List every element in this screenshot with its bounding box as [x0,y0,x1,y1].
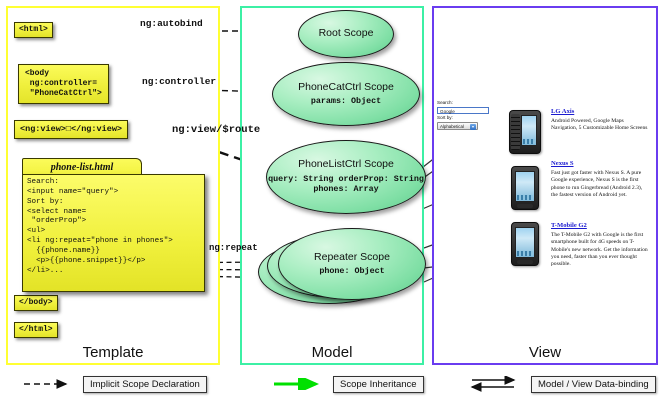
code-tag-body-close: </body> [14,295,58,311]
legend-label-databinding: Model / View Data-binding [531,376,656,393]
scope-repeater: Repeater Scope phone: Object [278,228,426,300]
sort-select[interactable]: Alphabetical ▾ [437,122,478,130]
home-button-graphic [517,204,533,208]
code-tag-ngview: <ng:view>□</ng:view> [14,120,128,139]
chevron-down-icon: ▾ [470,124,476,130]
note-code: Search: <input name="query"> Sort by: <s… [22,174,205,292]
label-ng-view-route: ng:view/$route [172,124,260,136]
home-button-graphic [517,260,533,264]
sort-label: Sort by: [437,115,497,121]
scope-phonecatctrl-props: params: Object [311,96,381,106]
column-label-model: Model [242,344,422,361]
phone-thumbnail-lg-axis [509,110,541,154]
code-tag-body: <body ng:controller= "PhoneCatCtrl"> [18,64,109,104]
diagram-canvas: Template Model View <html> <body ng:cont… [0,0,660,405]
code-tag-html-close: </html> [14,322,58,338]
browser-mock: Search: Google Sort by: Alphabetical ▾ [437,100,497,142]
search-label: Search: [437,100,497,106]
phone-name-link[interactable]: T-Mobile G2 [551,222,649,230]
sort-select-value: Alphabetical [440,124,464,129]
scope-phonelistctrl-title: PhoneListCtrl Scope [298,159,394,171]
legend-item-implicit: Implicit Scope Declaration [22,374,207,394]
scope-root: Root Scope [298,10,394,58]
code-tag-html: <html> [14,22,53,38]
phone-name-link[interactable]: Nexus S [551,160,649,168]
scope-phonelistctrl: PhoneListCtrl Scope query: String orderP… [266,140,426,214]
green-arrow-icon [272,378,326,390]
column-label-view: View [434,344,656,361]
phone-list-item-1: LG Axis Android Powered, Google Maps Nav… [551,108,649,133]
double-arrow-icon [470,376,524,392]
phone-thumbnail-nexus-s [511,166,539,210]
phone-snippet: Fast just got faster with Nexus S. A pur… [551,170,649,200]
phone-thumbnail-tmobile-g2 [511,222,539,266]
label-ng-autobind: ng:autobind [140,18,203,29]
legend: Implicit Scope Declaration Scope Inherit… [0,368,660,405]
screen-graphic [515,227,535,258]
phone-snippet: The T-Mobile G2 with Google is the first… [551,232,649,269]
label-ng-repeat: ng:repeat [209,243,258,253]
keyboard-graphic [511,114,520,150]
phone-list-item-2: Nexus S Fast just got faster with Nexus … [551,160,649,199]
dashed-arrow-icon [22,378,76,390]
column-label-template: Template [8,344,218,361]
screen-graphic [521,115,537,146]
phone-list-note: phone-list.html Search: <input name="que… [22,158,197,288]
scope-phonelistctrl-props: query: String orderProp: String phones: … [267,174,425,195]
scope-phonecatctrl: PhoneCatCtrl Scope params: Object [272,62,420,126]
scope-repeater-stack: Repeater Scope phone: Object [258,228,430,318]
label-ng-controller: ng:controller [142,76,216,87]
legend-label-inheritance: Scope Inheritance [333,376,424,393]
phone-snippet: Android Powered, Google Maps Navigation,… [551,118,649,133]
scope-phonecatctrl-title: PhoneCatCtrl Scope [298,82,394,94]
legend-item-inheritance: Scope Inheritance [272,374,424,394]
screen-graphic [515,171,535,202]
scope-repeater-title: Repeater Scope [314,252,390,264]
scope-repeater-props: phone: Object [319,266,384,276]
scope-root-title: Root Scope [319,28,374,40]
legend-item-databinding: Model / View Data-binding [470,374,656,394]
legend-label-implicit: Implicit Scope Declaration [83,376,207,393]
search-input[interactable]: Google [437,107,489,114]
phone-list-item-3: T-Mobile G2 The T-Mobile G2 with Google … [551,222,649,269]
phone-name-link[interactable]: LG Axis [551,108,649,116]
